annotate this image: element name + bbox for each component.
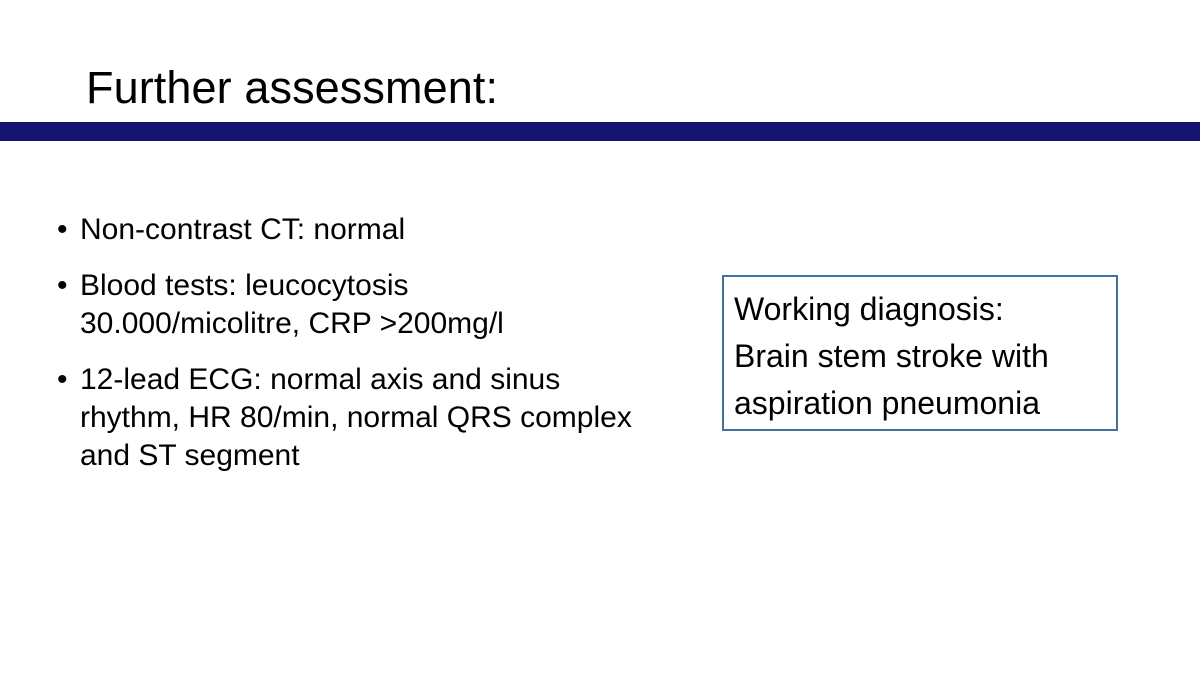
bullet-marker-icon: • (57, 267, 68, 305)
bullet-list: • Non-contrast CT: normal • Blood tests:… (55, 211, 635, 475)
list-item-text: Blood tests: leucocytosis 30.000/micolit… (80, 267, 635, 343)
diagnosis-line-3: aspiration pneumonia (734, 380, 1112, 427)
list-item-text: 12-lead ECG: normal axis and sinus rhyth… (80, 361, 635, 475)
slide-canvas: Further assessment: • Non-contrast CT: n… (0, 0, 1200, 675)
working-diagnosis-box: Working diagnosis: Brain stem stroke wit… (722, 275, 1118, 431)
list-item-text: Non-contrast CT: normal (80, 211, 635, 249)
title-divider-bar (0, 122, 1200, 141)
list-item: • 12-lead ECG: normal axis and sinus rhy… (55, 361, 635, 475)
working-diagnosis-text: Working diagnosis: Brain stem stroke wit… (734, 286, 1112, 427)
page-title: Further assessment: (86, 62, 1086, 114)
diagnosis-line-1: Working diagnosis: (734, 286, 1112, 333)
bullet-marker-icon: • (57, 361, 68, 399)
bullet-marker-icon: • (57, 211, 68, 249)
diagnosis-line-2: Brain stem stroke with (734, 333, 1112, 380)
list-item: • Blood tests: leucocytosis 30.000/micol… (55, 267, 635, 343)
list-item: • Non-contrast CT: normal (55, 211, 635, 249)
